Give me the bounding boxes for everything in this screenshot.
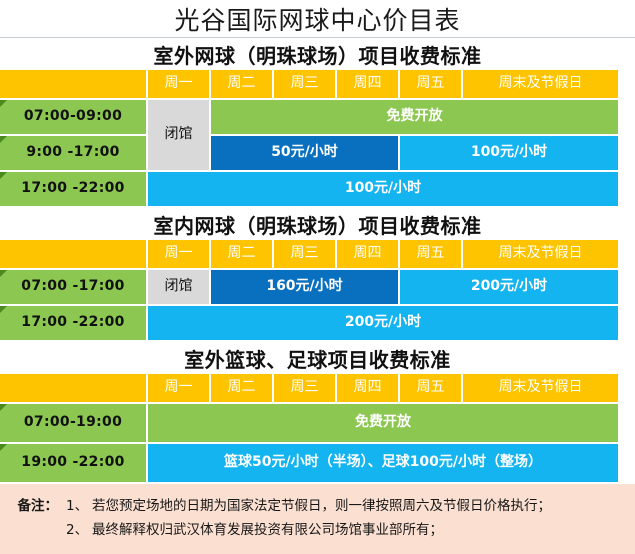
- note-item: 2、 最终解释权归武汉体育发展投资有限公司场馆事业部所有；: [0, 518, 635, 542]
- table-row: 07:00-09:00 闭馆 免费开放: [0, 100, 620, 136]
- header-day-thu: 周四: [337, 374, 400, 404]
- header-day-tue: 周二: [211, 70, 274, 100]
- price-cell: 篮球50元/小时（半场）、足球100元/小时（整场）: [148, 444, 620, 484]
- time-slot-label: 17:00 -22:00: [0, 306, 148, 342]
- header-day-tue: 周二: [211, 374, 274, 404]
- time-slot-label: 19:00 -22:00: [0, 444, 148, 484]
- header-day-mon: 周一: [148, 374, 211, 404]
- price-cell: 200元/小时: [148, 306, 620, 342]
- page-title: 光谷国际网球中心价目表: [174, 1, 460, 37]
- header-day-wed: 周三: [274, 70, 337, 100]
- note-item: 备注： 1、 若您预定场地的日期为国家法定节假日，则一律按照周六及节假日价格执行…: [0, 494, 635, 518]
- time-slot-label: 07:00-19:00: [0, 404, 148, 444]
- table-row: 07:00-19:00 免费开放: [0, 404, 620, 444]
- table-row: 17:00 -22:00 200元/小时: [0, 306, 620, 342]
- section-banner-outdoor-tennis: 室外网球（明珠球场）项目收费标准: [0, 38, 635, 70]
- note-text: 若您预定场地的日期为国家法定节假日，则一律按照周六及节假日价格执行；: [92, 494, 635, 518]
- header-blank-cell: [0, 374, 148, 404]
- section-title: 室外网球（明珠球场）项目收费标准: [154, 40, 482, 69]
- table-header-row: 周一 周二 周三 周四 周五 周末及节假日: [0, 240, 620, 270]
- note-index: 1、: [66, 494, 92, 518]
- price-cell: 100元/小时: [400, 136, 620, 172]
- note-text: 最终解释权归武汉体育发展投资有限公司场馆事业部所有；: [92, 518, 635, 542]
- header-blank-cell: [0, 240, 148, 270]
- notes-label: 备注：: [0, 494, 66, 518]
- time-slot-label: 07:00 -17:00: [0, 270, 148, 306]
- time-slot-label: 17:00 -22:00: [0, 172, 148, 208]
- table-indoor-tennis: 周一 周二 周三 周四 周五 周末及节假日 07:00 -17:00 闭馆 16…: [0, 240, 620, 342]
- closed-cell: 闭馆: [148, 270, 211, 306]
- header-day-weekend: 周末及节假日: [463, 240, 620, 270]
- section-banner-basketball-football: 室外篮球、足球项目收费标准: [0, 342, 635, 374]
- section-title: 室外篮球、足球项目收费标准: [184, 344, 451, 373]
- price-list-sheet: 光谷国际网球中心价目表 室外网球（明珠球场）项目收费标准 周一 周二 周三 周四…: [0, 0, 635, 543]
- table-row: 07:00 -17:00 闭馆 160元/小时 200元/小时: [0, 270, 620, 306]
- header-blank-cell: [0, 70, 148, 100]
- header-day-mon: 周一: [148, 240, 211, 270]
- notes-label-spacer: [0, 518, 66, 542]
- header-day-fri: 周五: [400, 70, 463, 100]
- header-day-fri: 周五: [400, 240, 463, 270]
- price-cell: 100元/小时: [148, 172, 620, 208]
- header-day-weekend: 周末及节假日: [463, 70, 620, 100]
- table-header-row: 周一 周二 周三 周四 周五 周末及节假日: [0, 374, 620, 404]
- table-row: 9:00 -17:00 50元/小时 100元/小时: [0, 136, 620, 172]
- header-day-thu: 周四: [337, 240, 400, 270]
- table-basketball-football: 周一 周二 周三 周四 周五 周末及节假日 07:00-19:00 免费开放 1…: [0, 374, 620, 484]
- notes-section: 备注： 1、 若您预定场地的日期为国家法定节假日，则一律按照周六及节假日价格执行…: [0, 484, 635, 554]
- time-slot-label: 9:00 -17:00: [0, 136, 148, 172]
- header-day-tue: 周二: [211, 240, 274, 270]
- time-slot-label: 07:00-09:00: [0, 100, 148, 136]
- table-header-row: 周一 周二 周三 周四 周五 周末及节假日: [0, 70, 620, 100]
- table-row: 17:00 -22:00 100元/小时: [0, 172, 620, 208]
- table-outdoor-tennis: 周一 周二 周三 周四 周五 周末及节假日 07:00-09:00 闭馆 免费开…: [0, 70, 620, 208]
- header-day-wed: 周三: [274, 374, 337, 404]
- page-title-row: 光谷国际网球中心价目表: [0, 0, 635, 38]
- price-cell: 160元/小时: [211, 270, 400, 306]
- closed-cell: 闭馆: [148, 100, 211, 172]
- price-cell: 免费开放: [211, 100, 620, 136]
- header-day-fri: 周五: [400, 374, 463, 404]
- price-cell: 200元/小时: [400, 270, 620, 306]
- price-cell: 免费开放: [148, 404, 620, 444]
- header-day-mon: 周一: [148, 70, 211, 100]
- note-index: 2、: [66, 518, 92, 542]
- header-day-wed: 周三: [274, 240, 337, 270]
- header-day-thu: 周四: [337, 70, 400, 100]
- price-cell: 50元/小时: [211, 136, 400, 172]
- section-title: 室内网球（明珠球场）项目收费标准: [154, 210, 482, 239]
- section-banner-indoor-tennis: 室内网球（明珠球场）项目收费标准: [0, 208, 635, 240]
- table-row: 19:00 -22:00 篮球50元/小时（半场）、足球100元/小时（整场）: [0, 444, 620, 484]
- header-day-weekend: 周末及节假日: [463, 374, 620, 404]
